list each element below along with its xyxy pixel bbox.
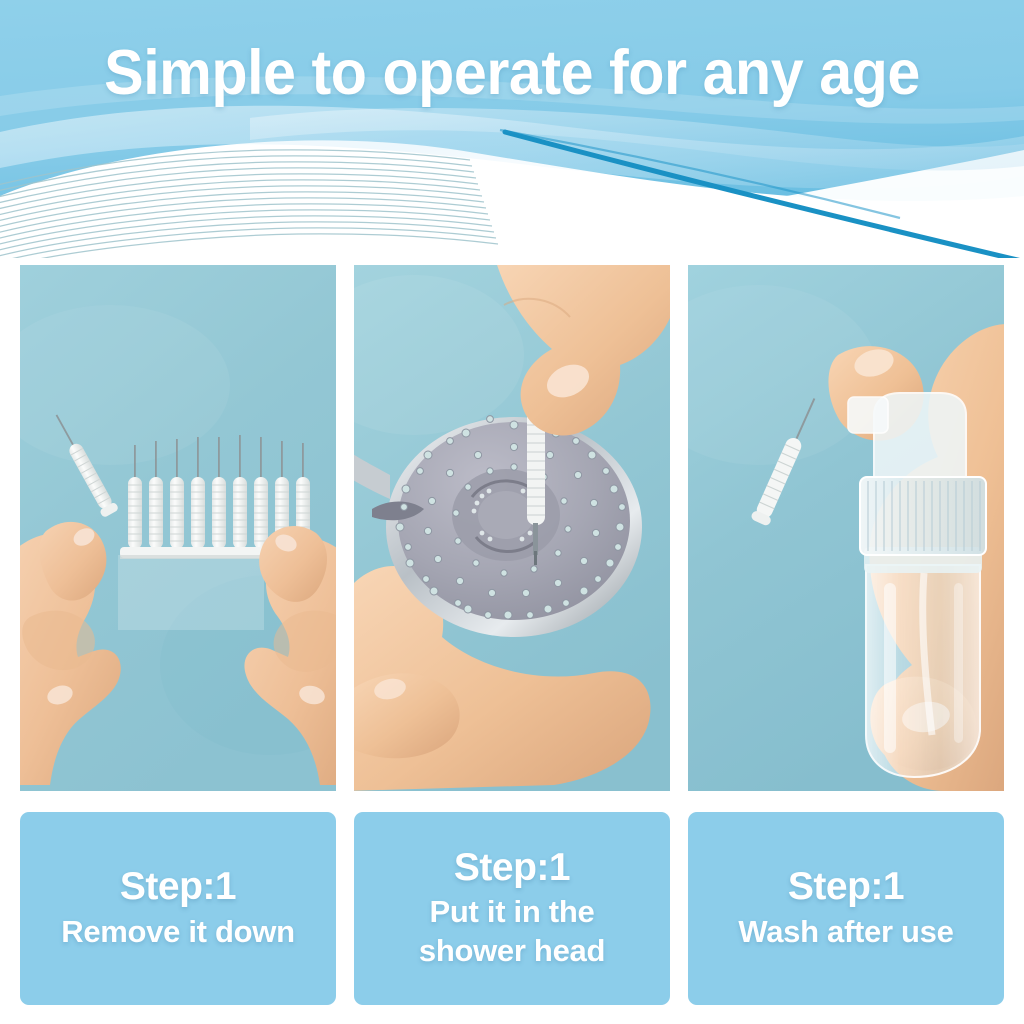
step-photo-row [20, 265, 1005, 791]
step-caption-row: Step:1 Remove it down Step:1 Put it in t… [20, 812, 1005, 1005]
step-photo-1 [20, 265, 336, 791]
infographic-page: Simple to operate for any age [0, 0, 1024, 1024]
step-photo-2 [354, 265, 670, 791]
step-description-1: Remove it down [61, 912, 295, 951]
step-caption-2: Step:1 Put it in the shower head [354, 812, 670, 1005]
spray-bottle-illustration [688, 265, 1004, 791]
step-caption-1: Step:1 Remove it down [20, 812, 336, 1005]
page-title: Simple to operate for any age [31, 42, 994, 105]
step-label-1: Step:1 [120, 866, 236, 908]
shower-head-illustration [354, 265, 670, 791]
step-description-2-line-2: shower head [419, 931, 605, 970]
step-description-2-line-1: Put it in the [419, 892, 605, 931]
spray-nozzle [848, 397, 888, 433]
brush-strip-illustration [20, 265, 336, 791]
step-photo-3 [688, 265, 1004, 791]
step-caption-3: Step:1 Wash after use [688, 812, 1004, 1005]
step-label-3: Step:1 [788, 866, 904, 908]
bottle-collar [860, 477, 986, 555]
step-description-2: Put it in the shower head [419, 892, 605, 970]
step-description-3: Wash after use [738, 912, 953, 951]
header-banner: Simple to operate for any age [0, 0, 1024, 258]
step-label-2: Step:1 [454, 847, 570, 889]
